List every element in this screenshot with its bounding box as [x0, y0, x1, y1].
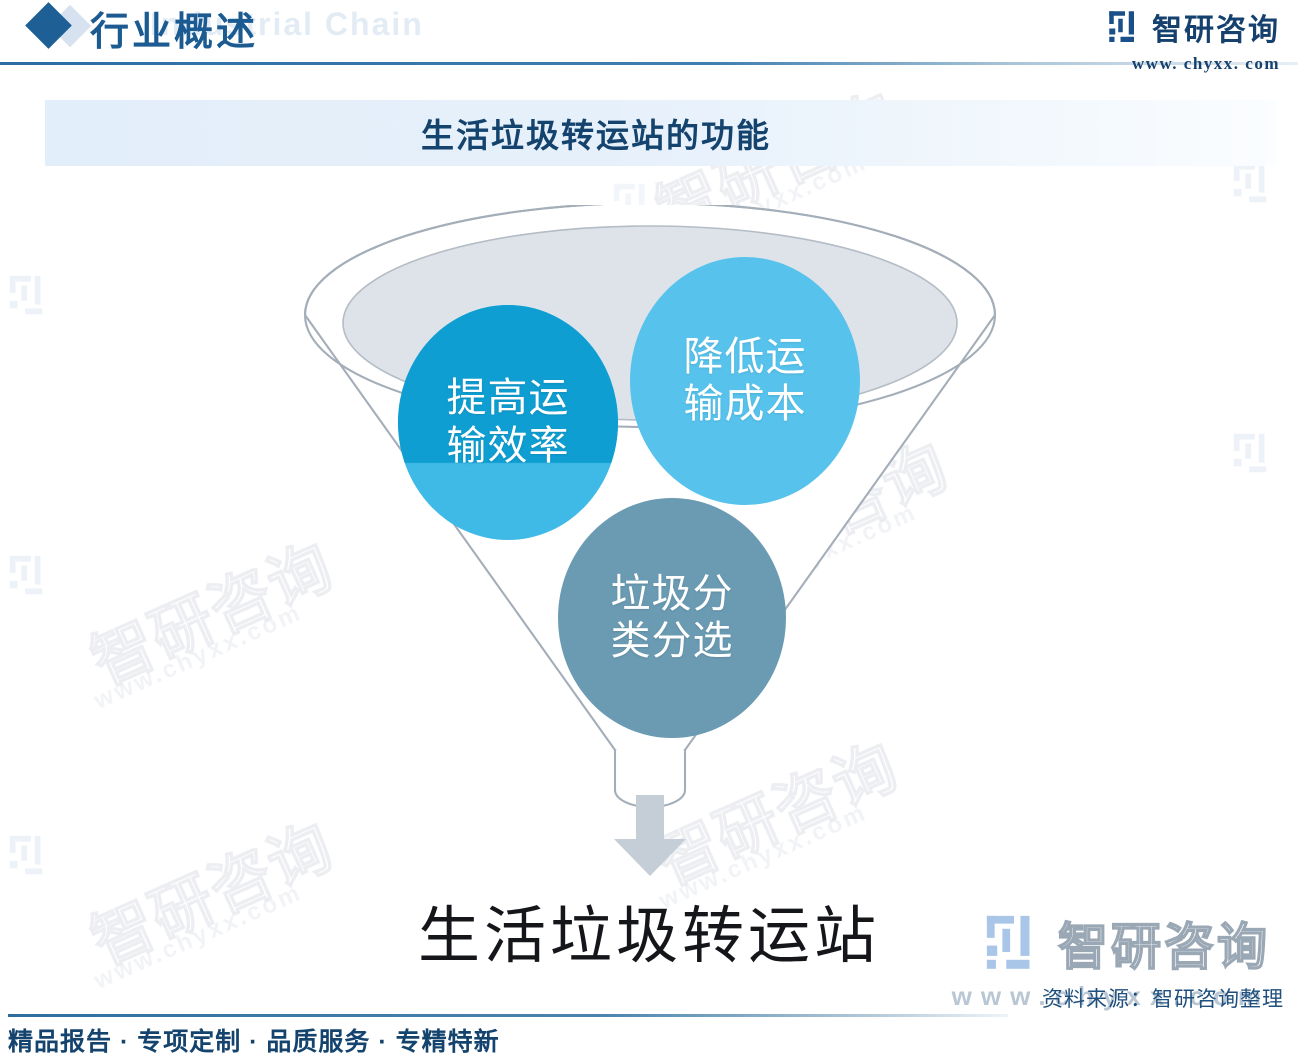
watermark-logo-icon	[6, 832, 52, 878]
section-title-band: 生活垃圾转运站的功能	[45, 100, 1277, 166]
bubble-label: 降低运 输成本	[684, 334, 807, 428]
bubble-improve-transport-efficiency[interactable]: 提高运 输效率	[398, 305, 618, 540]
brand-name: 智研咨询	[1152, 5, 1280, 49]
watermark-logo-icon	[1230, 160, 1276, 206]
watermark-logo-icon	[6, 272, 52, 318]
bubble-waste-sorting[interactable]: 垃圾分 类分选	[558, 498, 786, 738]
brand-row: 智研咨询	[1107, 5, 1280, 49]
brand-url[interactable]: www. chyxx. com	[1132, 54, 1280, 74]
outcome-label: 生活垃圾转运站	[0, 885, 1298, 975]
source-note: 资料来源：智研咨询整理	[1042, 983, 1284, 1013]
footer-divider	[8, 1014, 1008, 1017]
brand-block: 智研咨询 www. chyxx. com	[1107, 5, 1280, 74]
watermark-logo-icon	[6, 552, 52, 598]
watermark-logo-icon	[1230, 430, 1276, 476]
bubble-label: 垃圾分 类分选	[611, 571, 734, 665]
slide-canvas: 智研咨询 www.chyxx.com 智研咨询 www.chyxx.com 智研…	[0, 0, 1298, 1060]
bubble-reduce-transport-cost[interactable]: 降低运 输成本	[630, 257, 860, 505]
arrow-down-icon	[612, 795, 688, 882]
page-title: 行业概述	[90, 1, 258, 57]
zhiyan-logo-icon	[1107, 9, 1143, 45]
header-divider	[0, 62, 1298, 65]
brand-url-row: www. chyxx. com	[1107, 54, 1280, 74]
footer-tagline: 精品报告 · 专项定制 · 品质服务 · 专精特新	[8, 1022, 500, 1058]
page-header: Industrial Chain 行业概述	[0, 0, 1298, 70]
section-title: 生活垃圾转运站的功能	[45, 100, 1277, 166]
bubble-label: 提高运 输效率	[447, 375, 570, 469]
